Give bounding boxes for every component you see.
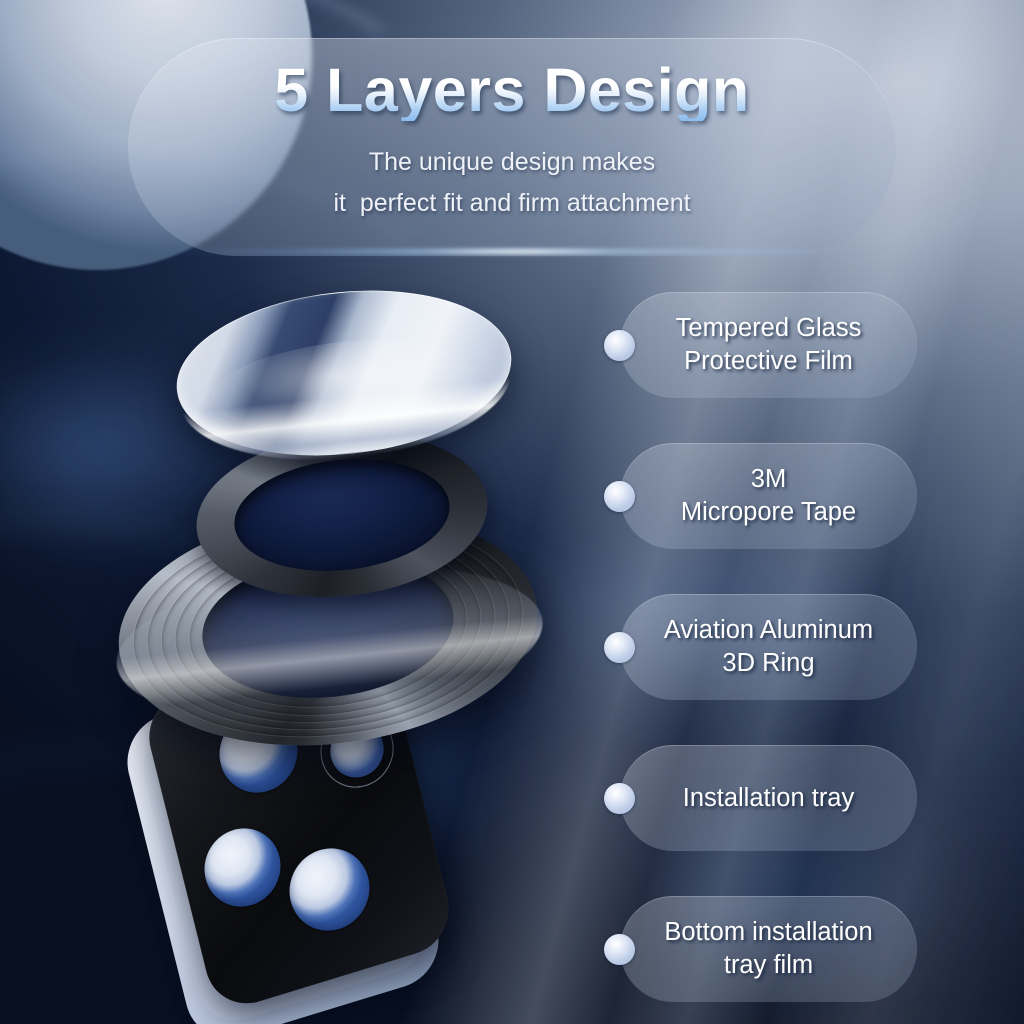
header-glow-core [420, 249, 620, 254]
callout-list: Tempered Glass Protective Film 3M Microp… [604, 292, 924, 1024]
infographic-canvas: 5 Layers Design The unique design makes … [0, 0, 1024, 1024]
subtitle-line-2: it perfect fit and firm attachment [0, 189, 1024, 218]
callout-label: Bottom installation tray film [620, 896, 917, 1002]
callout-micropore-tape[interactable]: 3M Micropore Tape [604, 443, 924, 549]
callout-label: Installation tray [620, 745, 917, 851]
callout-label: Aviation Aluminum 3D Ring [620, 594, 917, 700]
tempered-glass-layer [168, 275, 519, 471]
tape-aperture [229, 449, 455, 581]
callout-aluminum-ring[interactable]: Aviation Aluminum 3D Ring [604, 594, 924, 700]
subtitle-line-1: The unique design makes [0, 148, 1024, 177]
callout-label: 3M Micropore Tape [620, 443, 917, 549]
page-title: 5 Layers Design [0, 60, 1024, 121]
callout-label: Tempered Glass Protective Film [620, 292, 917, 398]
callout-bottom-tray-film[interactable]: Bottom installation tray film [604, 896, 924, 1002]
callout-tempered-glass[interactable]: Tempered Glass Protective Film [604, 292, 924, 398]
callout-installation-tray[interactable]: Installation tray [604, 745, 924, 851]
